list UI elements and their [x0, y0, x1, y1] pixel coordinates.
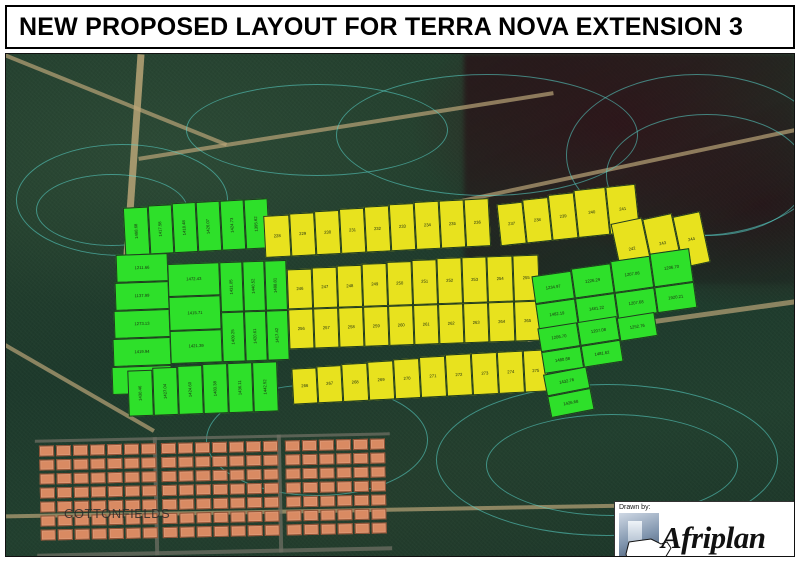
erf-area-label: 1252.76: [630, 324, 646, 331]
title-bar: NEW PROPOSED LAYOUT FOR TERRA NOVA EXTEN…: [5, 5, 795, 49]
erf-yellow[interactable]: 229: [289, 212, 316, 256]
house: [336, 439, 351, 450]
house: [247, 511, 262, 522]
house: [213, 484, 228, 495]
erf-number-label: 261: [423, 322, 430, 326]
erf-green[interactable]: 1426.07: [196, 201, 223, 252]
house: [337, 495, 352, 506]
house: [263, 441, 278, 452]
layout-plan-page: NEW PROPOSED LAYOUT FOR TERRA NOVA EXTEN…: [0, 0, 800, 562]
erf-number-label: 248: [346, 284, 353, 288]
township-house-row: [41, 527, 158, 540]
house: [108, 486, 123, 497]
house: [370, 438, 385, 449]
house: [337, 481, 352, 492]
house: [39, 445, 54, 456]
house: [178, 456, 193, 467]
erf-area-label: 1137.99: [135, 294, 150, 299]
erf-area-label: 1442.52: [263, 379, 268, 394]
existing-township-cottonfields: [35, 432, 392, 557]
erf-area-label: 1409.25: [231, 329, 236, 344]
house: [370, 466, 385, 477]
house: [264, 511, 279, 522]
erf-yellow[interactable]: 258: [338, 307, 364, 348]
township-house-row: [39, 457, 156, 470]
house: [124, 472, 139, 483]
erf-yellow[interactable]: 257: [313, 308, 339, 349]
house: [141, 443, 156, 454]
house: [56, 459, 71, 470]
erf-number-label: 265: [524, 319, 531, 323]
erf-number-label: 256: [298, 327, 305, 331]
house: [178, 470, 193, 481]
erf-yellow[interactable]: 236: [464, 198, 491, 247]
erf-area-label: 1431.05: [229, 279, 234, 294]
erf-area-label: 1207.08: [624, 271, 640, 277]
house: [107, 458, 122, 469]
house: [320, 495, 335, 506]
erf-number-label: 255: [523, 276, 530, 280]
house: [58, 529, 73, 540]
erf-area-label: 1395.62: [254, 216, 259, 231]
house: [320, 481, 335, 492]
township-house-row: [287, 522, 387, 535]
house: [263, 469, 278, 480]
house: [355, 523, 370, 534]
erf-yellow[interactable]: 261: [413, 304, 439, 345]
erf-number-label: 268: [352, 380, 359, 385]
house: [303, 496, 318, 507]
erf-green[interactable]: 1415.71: [168, 295, 221, 331]
erf-yellow[interactable]: 246: [287, 269, 313, 310]
erf-area-label: 1417.42: [275, 328, 280, 343]
township-house-row: [286, 508, 386, 521]
erf-area-label: 1211.66: [135, 266, 150, 271]
erf-green[interactable]: 1417.42: [266, 310, 290, 361]
erf-yellow[interactable]: 268: [341, 363, 369, 402]
house: [320, 509, 335, 520]
erf-green[interactable]: 1424.60: [177, 365, 204, 415]
erf-number-label: 238: [534, 218, 541, 223]
house: [40, 487, 55, 498]
drawn-by-label: Drawn by:: [619, 504, 651, 511]
township-house-row: [161, 455, 278, 468]
erf-yellow[interactable]: 249: [362, 263, 388, 307]
house: [264, 483, 279, 494]
house: [109, 528, 124, 539]
house: [229, 441, 244, 452]
house: [90, 444, 105, 455]
erf-number-label: 257: [323, 326, 330, 330]
erf-number-label: 243: [659, 241, 667, 247]
house: [371, 494, 386, 505]
erf-area-label: 1207.08: [591, 328, 607, 335]
erf-yellow[interactable]: 233: [389, 203, 416, 251]
page-title: NEW PROPOSED LAYOUT FOR TERRA NOVA EXTEN…: [7, 13, 743, 42]
house: [107, 444, 122, 455]
house: [231, 525, 246, 536]
house: [92, 528, 107, 539]
erf-number-label: 249: [371, 283, 378, 287]
house: [319, 467, 334, 478]
house: [196, 498, 211, 509]
township-house-row: [40, 471, 157, 484]
erf-number-label: 275: [532, 369, 539, 374]
erf-yellow[interactable]: 270: [393, 358, 421, 399]
house: [302, 454, 317, 465]
house: [41, 529, 56, 540]
green-block-middle: 1472.43 1415.71 1421.39 1431.05 1440.52 …: [167, 260, 288, 364]
erf-area-label: 1415.71: [187, 311, 202, 316]
erf-area-label: 1482.19: [549, 311, 565, 317]
erf-yellow[interactable]: 254: [486, 256, 514, 303]
erf-number-label: 254: [497, 277, 504, 281]
erf-yellow[interactable]: 234: [414, 201, 441, 250]
house: [161, 443, 176, 454]
house: [124, 458, 139, 469]
township-house-row: [40, 485, 157, 498]
erf-number-label: 231: [349, 228, 356, 233]
house: [212, 456, 227, 467]
erf-green[interactable]: 1421.39: [170, 329, 223, 364]
erf-area-label: 1440.52: [252, 278, 257, 293]
erf-area-label: 1420.61: [253, 328, 258, 343]
house: [214, 526, 229, 537]
erf-number-label: 271: [429, 375, 436, 380]
house: [246, 455, 261, 466]
erf-number-label: 266: [301, 384, 308, 389]
erf-area-label: 1426.07: [206, 219, 211, 234]
house: [91, 472, 106, 483]
house: [370, 452, 385, 463]
erf-number-label: 234: [424, 223, 431, 228]
erf-number-label: 241: [619, 207, 626, 212]
erf-number-label: 233: [399, 225, 406, 230]
house: [263, 455, 278, 466]
erf-green[interactable]: 1442.52: [252, 361, 279, 412]
company-name-logo: Afriplan: [661, 520, 766, 556]
house: [124, 444, 139, 455]
erf-number-label: 237: [508, 221, 515, 226]
house: [337, 509, 352, 520]
house: [73, 445, 88, 456]
house: [247, 483, 262, 494]
house: [212, 442, 227, 453]
house: [91, 486, 106, 497]
house: [161, 457, 176, 468]
house: [353, 453, 368, 464]
house: [303, 482, 318, 493]
house: [371, 508, 386, 519]
erf-area-label: 1480.88: [555, 357, 571, 364]
township-house-row: [163, 525, 280, 538]
erf-yellow[interactable]: 259: [363, 306, 389, 347]
erf-number-label: 244: [688, 237, 696, 243]
house: [179, 484, 194, 495]
township-house-row: [285, 452, 385, 465]
erf-number-label: 232: [374, 227, 381, 232]
erf-green[interactable]: 1427.04: [152, 367, 179, 416]
township-house-row: [285, 438, 385, 451]
house: [141, 471, 156, 482]
house: [354, 509, 369, 520]
erf-green[interactable]: 1273.13: [114, 309, 171, 339]
erf-number-label: 235: [449, 222, 456, 227]
township-house-row: [286, 480, 386, 493]
erf-area-label: 1488.81: [274, 278, 279, 293]
erf-number-label: 251: [421, 280, 428, 284]
township-house-row: [162, 511, 279, 524]
erf-number-label: 240: [588, 210, 595, 215]
house: [336, 467, 351, 478]
erf-green[interactable]: 1436.11: [227, 362, 254, 413]
erf-green[interactable]: 1488.81: [264, 260, 288, 311]
erf-number-label: 267: [326, 382, 333, 387]
erf-number-label: 230: [324, 230, 331, 235]
erf-yellow[interactable]: 271: [419, 356, 447, 398]
erf-number-label: 253: [471, 278, 478, 282]
township-house-row: [39, 443, 156, 456]
erf-number-label: 239: [559, 214, 566, 219]
house: [246, 441, 261, 452]
house: [285, 454, 300, 465]
house: [303, 510, 318, 521]
house: [229, 469, 244, 480]
erf-area-label: 1483.38: [213, 381, 218, 396]
erf-yellow[interactable]: 267: [316, 365, 343, 403]
house: [285, 440, 300, 451]
erf-green[interactable]: 1418.48: [172, 202, 199, 253]
erf-area-label: 1418.48: [182, 220, 187, 235]
house: [195, 470, 210, 481]
erf-yellow[interactable]: 252: [436, 257, 463, 304]
erf-number-label: 272: [455, 373, 462, 378]
house: [74, 473, 89, 484]
erf-area-label: 1419.94: [134, 350, 149, 355]
erf-yellow[interactable]: 264: [488, 302, 515, 343]
township-house-row: [161, 469, 278, 482]
erf-number-label: 264: [498, 320, 505, 324]
house: [371, 480, 386, 491]
erf-area-label: 1234.97: [545, 284, 561, 290]
house: [304, 524, 319, 535]
green-block-bottom-row: 1430.46 1427.04 1424.60 1483.38 1436.11 …: [127, 361, 279, 418]
erf-area-label: 1481.22: [589, 305, 605, 311]
erf-number-label: 242: [628, 246, 636, 252]
house: [57, 473, 72, 484]
erf-number-label: 258: [348, 325, 355, 329]
house: [57, 487, 72, 498]
house: [319, 453, 334, 464]
house: [125, 486, 140, 497]
house: [73, 459, 88, 470]
house: [230, 497, 245, 508]
erf-area-label: 1207.68: [628, 300, 644, 306]
erf-area-label: 1481.62: [594, 350, 610, 357]
house: [264, 497, 279, 508]
house: [372, 522, 387, 533]
erf-yellow[interactable]: 248: [337, 265, 363, 308]
erf-yellow[interactable]: 250: [387, 261, 414, 306]
township-house-row: [286, 494, 386, 507]
house: [40, 515, 55, 526]
erf-area-label: 1273.13: [134, 322, 149, 327]
house: [336, 453, 351, 464]
erf-number-label: 229: [299, 232, 306, 237]
house: [141, 457, 156, 468]
house: [213, 498, 228, 509]
house: [75, 529, 90, 540]
erf-number-label: 252: [446, 279, 453, 283]
house: [90, 458, 105, 469]
erf-green[interactable]: 1431.05: [219, 261, 244, 312]
erf-green[interactable]: 1137.99: [115, 281, 170, 311]
erf-green[interactable]: 1420.61: [244, 311, 268, 362]
house: [161, 471, 176, 482]
erf-yellow[interactable]: 260: [388, 305, 414, 346]
erf-yellow[interactable]: 240: [573, 187, 610, 238]
erf-yellow[interactable]: 228: [263, 215, 291, 258]
house: [196, 484, 211, 495]
erf-area-label: 1206.70: [664, 265, 680, 271]
erf-green[interactable]: 1206.70: [649, 248, 693, 287]
erf-yellow[interactable]: 231: [339, 208, 366, 254]
erf-area-label: 1498.68: [134, 223, 139, 238]
erf-yellow[interactable]: 266: [291, 367, 318, 404]
erf-area-label: 1472.43: [186, 277, 201, 282]
erf-number-label: 263: [473, 321, 480, 325]
house: [195, 456, 210, 467]
house: [286, 482, 301, 493]
house: [248, 525, 263, 536]
erf-number-label: 259: [373, 324, 380, 328]
house: [354, 481, 369, 492]
house: [354, 495, 369, 506]
erf-area-label: 1427.04: [163, 384, 168, 399]
house: [246, 469, 261, 480]
erf-area-label: 1206.70: [551, 334, 567, 341]
erf-number-label: 236: [474, 220, 481, 225]
erf-green[interactable]: 1252.76: [617, 312, 658, 342]
erf-yellow[interactable]: 256: [288, 309, 314, 350]
erf-number-label: 274: [507, 370, 514, 375]
house: [302, 440, 317, 451]
erf-area-label: 1436.11: [238, 380, 243, 395]
house: [143, 527, 158, 538]
erf-yellow[interactable]: 230: [314, 210, 341, 255]
house: [178, 442, 193, 453]
house: [162, 485, 177, 496]
erf-area-label: 1424.60: [188, 382, 193, 397]
erf-yellow[interactable]: 272: [445, 353, 473, 396]
township-house-row: [285, 466, 385, 479]
house: [338, 523, 353, 534]
erf-number-label: 273: [481, 371, 488, 376]
house: [180, 526, 195, 537]
erf-yellow[interactable]: 274: [497, 351, 525, 394]
house: [179, 512, 194, 523]
township-name-label: COTTONFIELDS: [64, 506, 170, 521]
erf-green[interactable]: 1424.73: [220, 199, 247, 250]
township-house-row: [162, 497, 279, 510]
house: [230, 511, 245, 522]
erf-number-label: 270: [403, 376, 410, 381]
erf-green[interactable]: 1409.25: [221, 311, 246, 362]
erf-yellow[interactable]: 269: [367, 360, 395, 400]
township-house-row: [161, 441, 278, 454]
erf-yellow[interactable]: 235: [439, 199, 466, 248]
house: [40, 501, 55, 512]
erf-number-label: 246: [296, 287, 303, 291]
drawn-by-logo-block: Drawn by: Afriplan Tel: (013) 282 8035 e…: [614, 501, 795, 557]
house: [229, 455, 244, 466]
erf-green[interactable]: 1498.68: [123, 207, 150, 256]
erf-green[interactable]: 1430.46: [127, 370, 154, 417]
erf-number-label: 250: [396, 281, 403, 285]
house: [39, 459, 54, 470]
erf-area-label: 1426.68: [563, 399, 579, 406]
house: [196, 512, 211, 523]
house: [212, 470, 227, 481]
erf-area-label: 1430.46: [138, 386, 143, 401]
house: [302, 468, 317, 479]
erf-green[interactable]: 1483.38: [202, 363, 229, 414]
erf-yellow[interactable]: 232: [364, 205, 391, 252]
erf-number-label: 260: [398, 323, 405, 327]
erf-yellow[interactable]: 253: [461, 256, 488, 303]
township-house-row: [162, 483, 279, 496]
house: [197, 526, 212, 537]
house: [195, 442, 210, 453]
erf-green[interactable]: 1419.94: [113, 337, 172, 367]
erf-area-label: 1424.73: [230, 217, 235, 232]
erf-area-label: 1920.21: [668, 294, 684, 300]
map-frame: 1498.68 1417.58 1418.48 1426.07 1424.73 …: [5, 53, 795, 557]
erf-green[interactable]: 1417.58: [148, 204, 175, 254]
house: [285, 468, 300, 479]
erf-number-label: 269: [378, 378, 385, 383]
erf-yellow[interactable]: 263: [463, 302, 489, 343]
house: [40, 473, 55, 484]
house: [56, 445, 71, 456]
green-block-top-row: 1498.68 1417.58 1418.48 1426.07 1424.73 …: [123, 198, 271, 258]
house: [319, 439, 334, 450]
erf-area-label: 1226.29: [585, 278, 601, 284]
yellow-block-middle: 246 247 248 249 250 251 252 253 254 255 …: [287, 255, 542, 354]
erf-yellow[interactable]: 251: [411, 259, 438, 305]
house: [247, 497, 262, 508]
house: [163, 527, 178, 538]
house: [321, 523, 336, 534]
erf-yellow[interactable]: 247: [312, 267, 338, 309]
erf-yellow[interactable]: 273: [471, 352, 499, 395]
house: [126, 528, 141, 539]
erf-area-label: 1417.58: [159, 222, 164, 237]
erf-green[interactable]: 1211.66: [116, 253, 169, 283]
house: [179, 498, 194, 509]
erf-area-label: 1421.39: [189, 344, 204, 349]
erf-green[interactable]: 1440.52: [242, 261, 266, 312]
house: [74, 487, 89, 498]
house: [142, 485, 157, 496]
erf-number-label: 228: [274, 234, 281, 239]
erf-green[interactable]: 1472.43: [167, 262, 220, 297]
erf-area-label: 1432.76: [559, 378, 575, 385]
house: [265, 525, 280, 536]
erf-yellow[interactable]: 262: [438, 303, 464, 344]
erf-number-label: 262: [448, 321, 455, 325]
erf-number-label: 247: [321, 285, 328, 289]
